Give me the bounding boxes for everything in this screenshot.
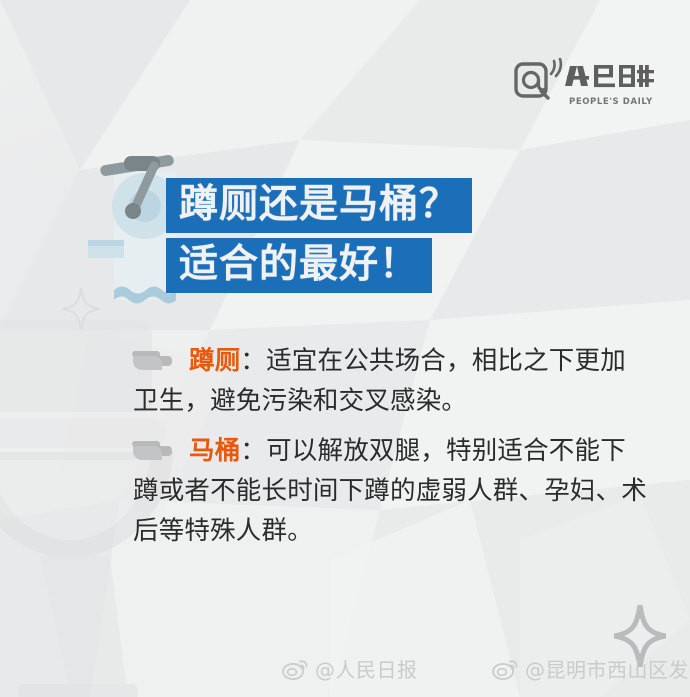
pointing-hand-icon	[131, 350, 177, 374]
paragraph-squat-toilet: 蹲厕：适宜在公共场合，相比之下更加卫生，避免污染和交叉感染。	[133, 341, 647, 421]
signal-wave-icon	[551, 59, 561, 76]
body-text-block: 蹲厕：适宜在公共场合，相比之下更加卫生，避免污染和交叉感染。 马桶：可以解放双腿…	[133, 341, 647, 555]
logo-en-name: PEOPLE'S DAILY	[569, 97, 653, 107]
keyword-squat-toilet: 蹲厕	[189, 346, 240, 376]
title-line-1: 蹲厕还是马桶？	[166, 178, 472, 233]
separator-2: ：	[240, 436, 266, 466]
poster-canvas: PEOPLE'S DAILY 蹲厕还是马桶？ 适合的最好！	[0, 0, 690, 697]
separator-1: ：	[240, 346, 266, 376]
logo-cn-name	[565, 65, 654, 87]
watermark-peoples-daily: @人民日报	[282, 654, 418, 683]
watermark-handle: @昆明市西山区发布	[525, 654, 690, 683]
watermark-handle: @人民日报	[315, 654, 418, 683]
title-block: 蹲厕还是马桶？ 适合的最好！	[166, 178, 690, 293]
peoples-daily-logo: PEOPLE'S DAILY	[514, 58, 656, 110]
weibo-icon	[492, 658, 518, 680]
paragraph-sitting-toilet: 马桶：可以解放双腿，特别适合不能下蹲或者不能长时间下蹲的虚弱人群、孕妇、术后等特…	[133, 431, 647, 551]
weibo-icon	[282, 658, 308, 680]
pointing-hand-icon	[131, 440, 177, 464]
watermark-kunming-xishan: @昆明市西山区发布	[492, 654, 690, 683]
keyword-sitting-toilet: 马桶	[189, 436, 240, 466]
at-symbol-icon	[516, 64, 548, 98]
title-line-2: 适合的最好！	[166, 238, 432, 293]
